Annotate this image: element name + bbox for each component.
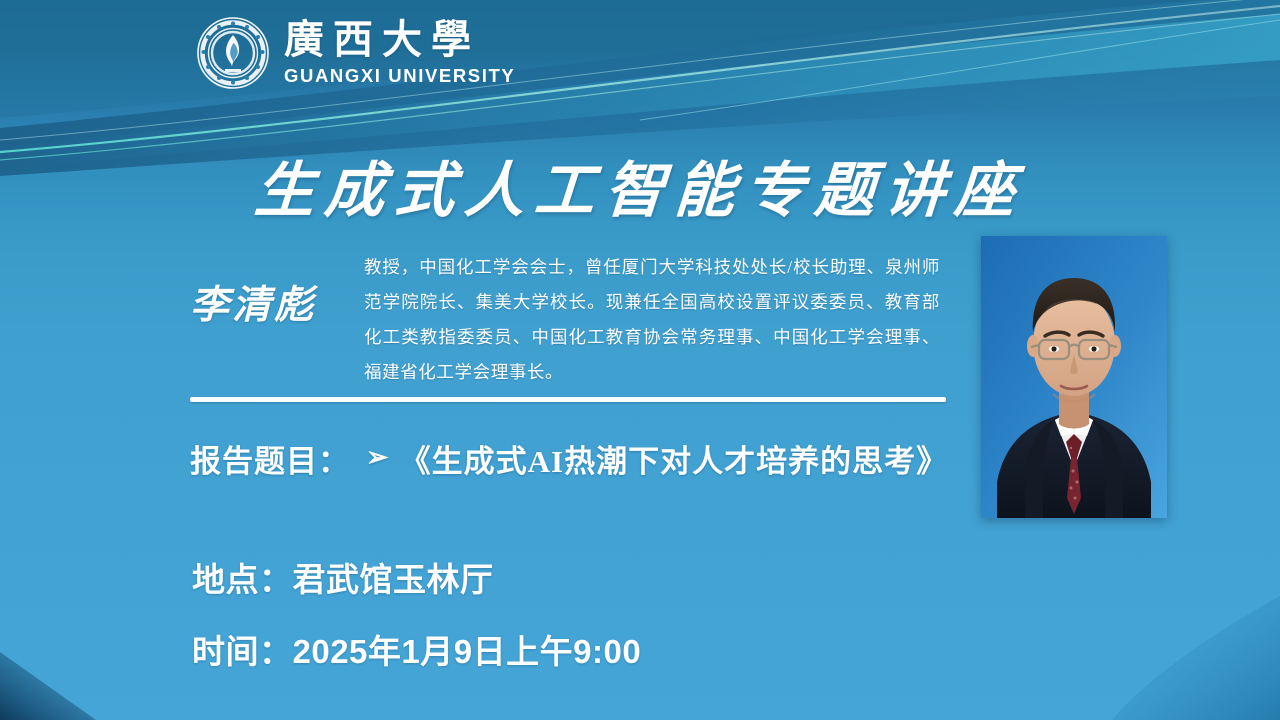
wordmark-english: GUANGXI UNIVERSITY xyxy=(284,67,515,86)
report-title-row: 报告题目： ➢ 《生成式AI热潮下对人才培养的思考》 xyxy=(190,436,948,481)
arrow-bullet-icon: ➢ xyxy=(366,444,390,471)
page-title: 生成式人工智能专题讲座 xyxy=(0,142,1280,229)
report-title-value: 《生成式AI热潮下对人才培养的思考》 xyxy=(400,436,948,481)
speaker-portrait xyxy=(981,236,1167,518)
speaker-bio: 教授，中国化工学会会士，曾任厦门大学科技处处长/校长助理、泉州师范学院院长、集美… xyxy=(364,250,940,390)
lecture-poster: 廣西大學 GUANGXI UNIVERSITY 生成式人工智能专题讲座 李清彪 … xyxy=(0,0,1280,720)
event-place: 地点：君武馆玉林厅 xyxy=(192,553,494,601)
section-divider xyxy=(190,397,946,402)
speaker-name: 李清彪 xyxy=(190,274,360,330)
wordmark: 廣西大學 GUANGXI UNIVERSITY xyxy=(284,20,515,86)
university-brand: 廣西大學 GUANGXI UNIVERSITY xyxy=(196,16,515,90)
wordmark-chinese: 廣西大學 xyxy=(284,20,515,60)
portrait-photo xyxy=(981,236,1167,518)
event-time: 时间：2025年1月9日上午9:00 xyxy=(192,625,641,673)
guangxi-university-emblem-icon xyxy=(196,16,270,90)
report-title-label: 报告题目： xyxy=(190,436,350,481)
